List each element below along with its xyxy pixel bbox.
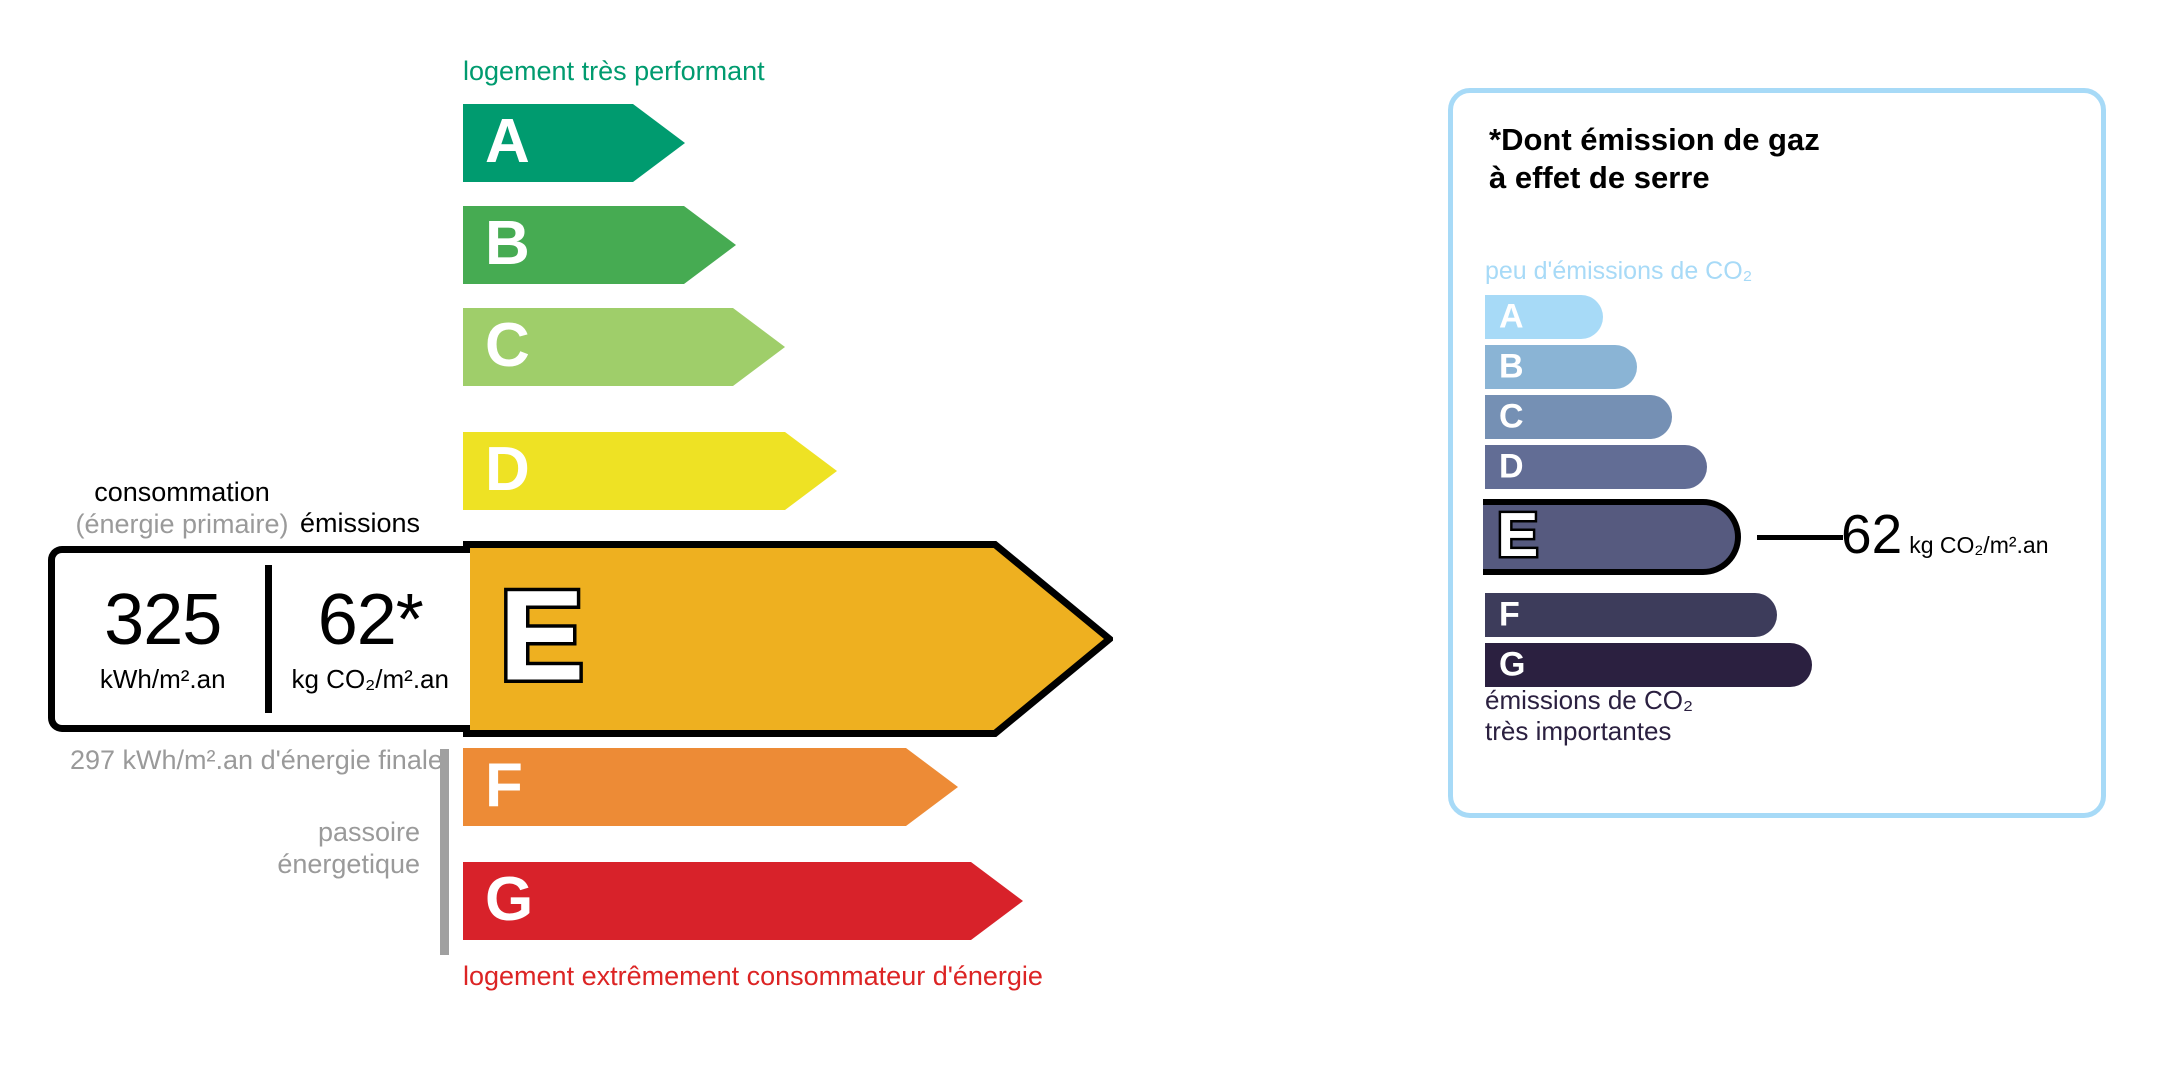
- co2-panel-title: *Dont émission de gaz à effet de serre: [1489, 121, 1820, 197]
- co2-bottom-caption: émissions de CO₂ très importantes: [1485, 685, 1693, 747]
- co2-grade-bar-a[interactable]: A: [1485, 295, 1603, 339]
- energy-grade-row-g[interactable]: G: [463, 862, 1023, 940]
- energy-grade-row-d[interactable]: D: [463, 432, 837, 510]
- grade-arrow-g-shape: [463, 862, 1023, 940]
- energy-grade-row-b[interactable]: B: [463, 206, 736, 284]
- passoire-energetique-label: passoire énergetique: [180, 816, 420, 881]
- energy-grade-row-e-selected[interactable]: E: [463, 541, 1113, 737]
- final-energy-label: 297 kWh/m².an d'énergie finale: [70, 744, 443, 776]
- consumption-value: 325: [104, 584, 221, 656]
- consumption-label-group: consommation (énergie primaire): [62, 477, 302, 541]
- co2-leader-line: [1757, 535, 1843, 540]
- value-box: 325 kWh/m².an 62* kg CO₂/m².an: [48, 546, 470, 732]
- energy-performance-diagram: logement très performant A B C D E F G l…: [0, 0, 1400, 1079]
- co2-value: 62: [1841, 503, 1902, 565]
- grade-letter-c: C: [485, 315, 530, 377]
- co2-grade-letter-g: G: [1499, 647, 1525, 681]
- consumption-label: consommation: [94, 477, 270, 507]
- energy-grade-row-f[interactable]: F: [463, 748, 958, 826]
- co2-grade-bar-b[interactable]: B: [1485, 345, 1637, 389]
- emission-value-cell: 62* kg CO₂/m².an: [270, 553, 470, 725]
- grade-arrow-f[interactable]: [463, 748, 958, 826]
- grade-arrow-g[interactable]: [463, 862, 1023, 940]
- co2-grade-bar-c[interactable]: C: [1485, 395, 1672, 439]
- co2-top-caption: peu d'émissions de CO₂: [1485, 257, 1752, 286]
- energy-grade-row-a[interactable]: A: [463, 104, 685, 182]
- co2-grade-letter-f: F: [1499, 597, 1520, 631]
- grade-letter-d: D: [485, 439, 530, 501]
- co2-grade-bar-g[interactable]: G: [1485, 643, 1812, 687]
- energy-top-caption: logement très performant: [463, 56, 765, 87]
- energy-bottom-caption: logement extrêmement consommateur d'éner…: [463, 961, 1043, 992]
- co2-grade-bar-d[interactable]: D: [1485, 445, 1707, 489]
- passoire-bracket-bar: [440, 749, 449, 955]
- co2-grade-letter-e: E: [1497, 505, 1538, 567]
- consumption-unit: kWh/m².an: [100, 664, 226, 695]
- grade-letter-e: E: [499, 572, 584, 700]
- emissions-label: émissions: [300, 508, 420, 539]
- consumption-value-cell: 325 kWh/m².an: [55, 553, 270, 725]
- primary-energy-label: (énergie primaire): [62, 509, 302, 541]
- energy-grade-row-c[interactable]: C: [463, 308, 785, 386]
- co2-grade-letter-a: A: [1499, 299, 1524, 333]
- co2-grade-letter-c: C: [1499, 399, 1524, 433]
- co2-grade-letter-b: B: [1499, 349, 1524, 383]
- co2-grade-bar-e-selected[interactable]: E: [1483, 499, 1741, 575]
- co2-grade-letter-d: D: [1499, 449, 1524, 483]
- co2-grade-bar-f[interactable]: F: [1485, 593, 1777, 637]
- grade-letter-a: A: [485, 111, 530, 173]
- co2-unit: kg CO₂/m².an: [1909, 532, 2048, 558]
- emission-unit: kg CO₂/m².an: [292, 664, 449, 695]
- grade-letter-g: G: [485, 869, 533, 931]
- grade-letter-b: B: [485, 213, 530, 275]
- grade-arrow-f-shape: [463, 748, 958, 826]
- grade-letter-f: F: [485, 755, 523, 817]
- co2-emissions-panel: *Dont émission de gaz à effet de serre p…: [1448, 88, 2106, 818]
- emission-value: 62*: [318, 584, 423, 656]
- co2-value-group: 62kg CO₂/m².an: [1841, 507, 2048, 562]
